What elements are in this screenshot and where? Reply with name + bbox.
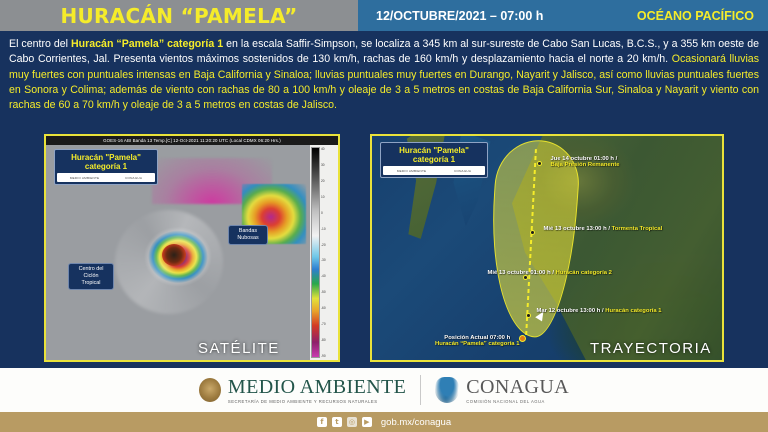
footer-url[interactable]: gob.mx/conagua bbox=[381, 417, 451, 428]
cyclone-center-line-3: Tropical bbox=[72, 280, 110, 287]
trajectory-title-line-2: categoría 1 bbox=[383, 155, 485, 164]
track-point-3[interactable] bbox=[530, 230, 535, 235]
colorbar-tick: -90 bbox=[321, 354, 337, 358]
header-basin: OCÉANO PACÍFICO bbox=[637, 9, 754, 23]
trajectory-agency-logobar: MEDIO AMBIENTE CONAGUA bbox=[383, 166, 485, 175]
colorbar-tick: 30 bbox=[321, 163, 337, 167]
track-label-3-when: Mié 13 octubre 13:00 h / bbox=[544, 226, 610, 232]
colorbar-tick: -40 bbox=[321, 274, 337, 278]
track-label-2: Mié 13 octubre 01:00 h / Huracán categor… bbox=[488, 270, 612, 276]
youtube-icon[interactable]: ▶ bbox=[362, 417, 372, 427]
trajectory-logo-medio-ambiente: MEDIO AMBIENTE bbox=[397, 169, 426, 173]
header-datetime: 12/OCTUBRE/2021 – 07:00 h bbox=[376, 9, 543, 23]
current-position-label: Posición Actual 07:00 h Huracán “Pamela”… bbox=[435, 335, 519, 347]
footer-brand-bar: MEDIO AMBIENTE SECRETARÍA DE MEDIO AMBIE… bbox=[0, 368, 768, 412]
colorbar-tick: 0 bbox=[321, 211, 337, 215]
colorbar-gradient bbox=[311, 147, 320, 358]
brand-subtitle: SECRETARÍA DE MEDIO AMBIENTE Y RECURSOS … bbox=[228, 399, 406, 404]
trajectory-title-line-1: Huracán "Pamela" bbox=[383, 146, 485, 155]
page-header: HURACÁN “PAMELA” 12/OCTUBRE/2021 – 07:00… bbox=[0, 0, 768, 31]
colorbar-ticks: 40 30 20 10 0 -10 -20 -30 -40 -50 -60 -7… bbox=[320, 147, 337, 358]
header-info-block: 12/OCTUBRE/2021 – 07:00 h OCÉANO PACÍFIC… bbox=[358, 0, 768, 31]
colorbar-tick: 40 bbox=[321, 147, 337, 151]
facebook-icon[interactable]: f bbox=[317, 417, 327, 427]
header-title-block: HURACÁN “PAMELA” bbox=[0, 0, 358, 31]
summary-part-1: El centro del bbox=[9, 38, 71, 50]
cyclone-center-line-2: Ciclón bbox=[72, 273, 110, 280]
satellite-title-box: Huracán "Pamela" categoría 1 MEDIO AMBIE… bbox=[54, 149, 158, 185]
brand-conagua: CONAGUA COMISIÓN NACIONAL DEL AGUA bbox=[435, 377, 569, 404]
satellite-metadata-strip: GOES-16 ABI Banda 13 Temp.[C] 12-Oct-202… bbox=[46, 136, 338, 145]
trajectory-panel[interactable]: Jue 14 octubre 01:00 h / Baja Presión Re… bbox=[370, 134, 724, 362]
colorbar-tick: -70 bbox=[321, 322, 337, 326]
track-label-3-status: Tormenta Tropical bbox=[612, 226, 663, 232]
satellite-logo-medio-ambiente: MEDIO AMBIENTE bbox=[70, 176, 99, 180]
twitter-icon[interactable]: t bbox=[332, 417, 342, 427]
colorbar-tick: -60 bbox=[321, 306, 337, 310]
colorbar-tick: -20 bbox=[321, 243, 337, 247]
track-point-4[interactable] bbox=[537, 161, 542, 166]
conagua-water-logo-icon bbox=[435, 377, 459, 403]
brand-medio-ambiente: MEDIO AMBIENTE SECRETARÍA DE MEDIO AMBIE… bbox=[199, 377, 406, 404]
conagua-subtitle: COMISIÓN NACIONAL DEL AGUA bbox=[466, 399, 569, 404]
colorbar-tick: -10 bbox=[321, 227, 337, 231]
cyclone-center-line-1: Centro del bbox=[72, 266, 110, 273]
track-label-2-status: Huracán categoría 2 bbox=[556, 270, 612, 276]
conagua-name: CONAGUA bbox=[466, 377, 569, 398]
hurricane-bulletin-page: HURACÁN “PAMELA” 12/OCTUBRE/2021 – 07:00… bbox=[0, 0, 768, 432]
track-label-4: Jue 14 octubre 01:00 h / Baja Presión Re… bbox=[551, 156, 620, 168]
trajectory-title-box: Huracán "Pamela" categoría 1 MEDIO AMBIE… bbox=[380, 142, 488, 178]
colorbar-tick: 20 bbox=[321, 179, 337, 183]
track-label-1: Mar 12 octubre 13:00 h / Huracán categor… bbox=[537, 308, 662, 314]
footer-divider bbox=[420, 375, 421, 405]
cloud-bands-line-1: Bandas bbox=[232, 228, 264, 235]
current-position-line-2: Huracán “Pamela” categoría 1 bbox=[435, 341, 519, 347]
track-label-1-status: Huracán categoría 1 bbox=[605, 308, 661, 314]
satellite-colorbar: 40 30 20 10 0 -10 -20 -30 -40 -50 -60 -7… bbox=[310, 145, 338, 360]
brand-name: MEDIO AMBIENTE bbox=[228, 377, 406, 398]
track-point-current[interactable] bbox=[519, 335, 526, 342]
satellite-logo-conagua: CONAGUA bbox=[125, 176, 142, 180]
brand-medio-ambiente-text: MEDIO AMBIENTE SECRETARÍA DE MEDIO AMBIE… bbox=[228, 377, 406, 404]
track-label-1-when: Mar 12 octubre 13:00 h / bbox=[537, 308, 604, 314]
trajectory-caption: TRAYECTORIA bbox=[590, 340, 712, 357]
satellite-label-cloud-bands: Bandas Nubosas bbox=[228, 225, 268, 245]
satellite-eye bbox=[162, 244, 186, 266]
summary-highlight-1: Huracán “Pamela” categoría 1 bbox=[71, 38, 223, 50]
satellite-agency-logobar: MEDIO AMBIENTE CONAGUA bbox=[57, 173, 155, 182]
panels-container: GOES-16 ABI Banda 13 Temp.[C] 12-Oct-202… bbox=[0, 130, 768, 368]
track-label-4-status: Baja Presión Remanente bbox=[551, 162, 620, 168]
colorbar-tick: -80 bbox=[321, 338, 337, 342]
colorbar-tick: -50 bbox=[321, 290, 337, 294]
trajectory-logo-conagua: CONAGUA bbox=[454, 169, 471, 173]
footer-social-bar: f t ◎ ▶ gob.mx/conagua bbox=[0, 412, 768, 432]
mexican-eagle-seal-icon bbox=[199, 378, 221, 402]
track-point-1[interactable] bbox=[526, 313, 531, 318]
satellite-label-cyclone-center: Centro del Ciclón Tropical bbox=[68, 263, 114, 290]
satellite-panel[interactable]: GOES-16 ABI Banda 13 Temp.[C] 12-Oct-202… bbox=[44, 134, 340, 362]
track-label-3: Mié 13 octubre 13:00 h / Tormenta Tropic… bbox=[544, 226, 663, 232]
instagram-icon[interactable]: ◎ bbox=[347, 417, 357, 427]
cloud-bands-line-2: Nubosas bbox=[232, 235, 264, 242]
summary-text: El centro del Huracán “Pamela” categoría… bbox=[0, 31, 768, 131]
satellite-title-line-1: Huracán "Pamela" bbox=[57, 153, 155, 162]
page-title: HURACÁN “PAMELA” bbox=[60, 4, 297, 28]
track-label-2-when: Mié 13 octubre 01:00 h / bbox=[488, 270, 554, 276]
colorbar-tick: 10 bbox=[321, 195, 337, 199]
satellite-caption: SATÉLITE bbox=[198, 340, 280, 357]
brand-conagua-text: CONAGUA COMISIÓN NACIONAL DEL AGUA bbox=[466, 377, 569, 404]
satellite-title-line-2: categoría 1 bbox=[57, 162, 155, 171]
colorbar-tick: -30 bbox=[321, 258, 337, 262]
